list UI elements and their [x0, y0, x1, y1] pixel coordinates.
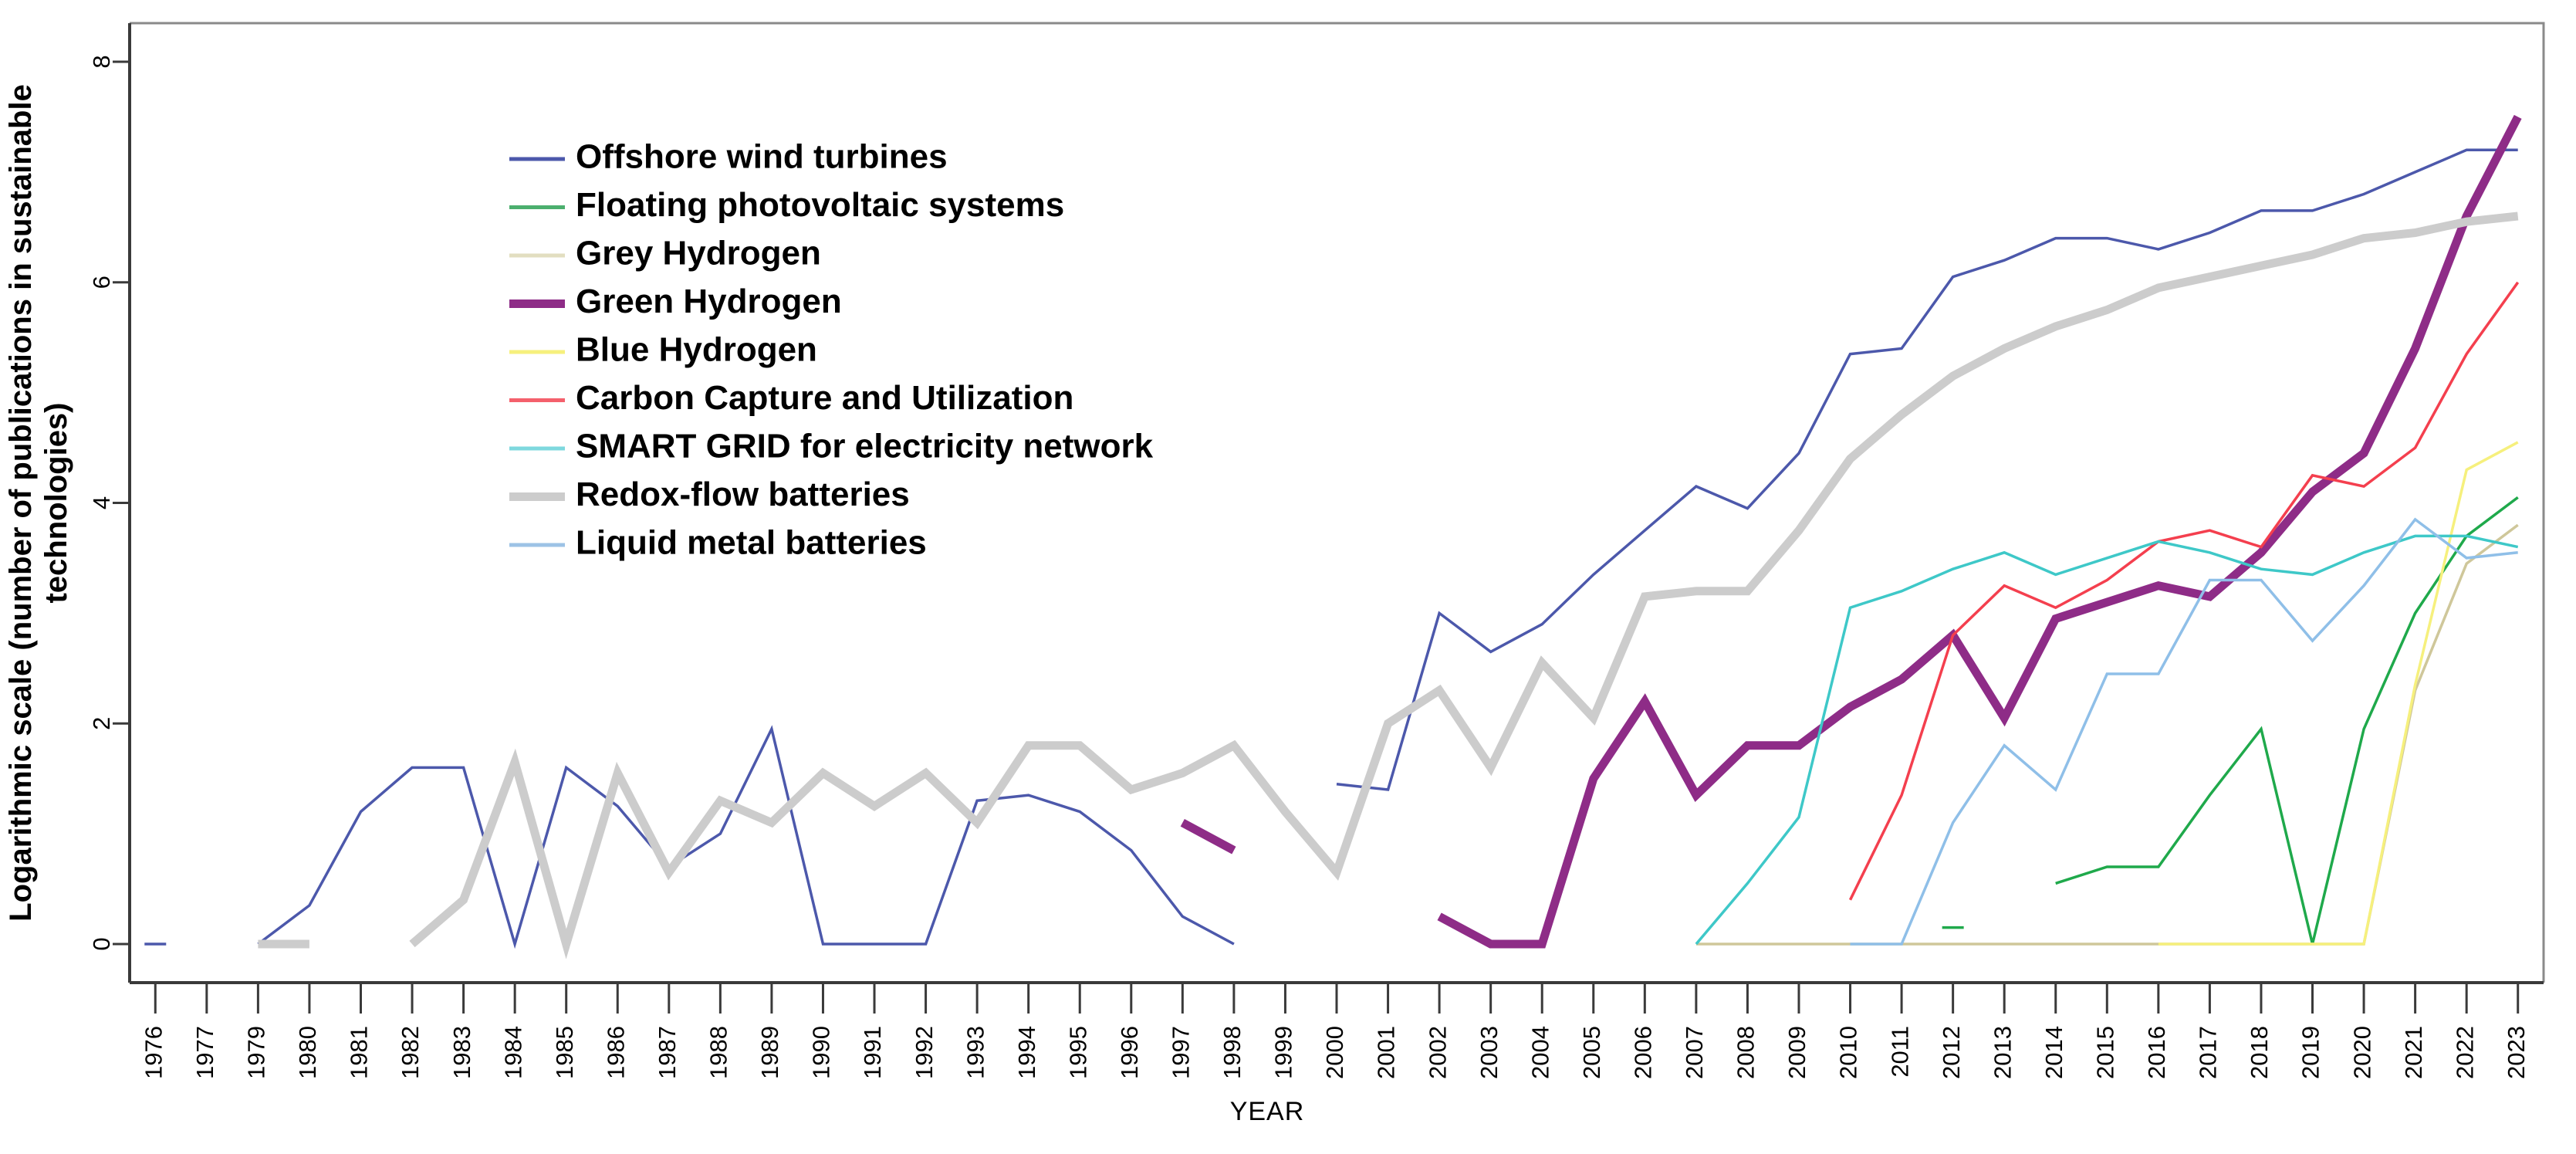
x-tick-label: 2014 [2040, 1026, 2067, 1079]
y-tick-label: 0 [88, 937, 115, 950]
legend-item-floating-photovoltaic-systems[interactable]: Floating photovoltaic systems [509, 186, 1064, 224]
x-tick-label: 2016 [2143, 1026, 2170, 1079]
x-tick-label: 1985 [551, 1026, 578, 1079]
y-tick-label: 6 [88, 276, 115, 289]
x-tick-label: 2000 [1321, 1026, 1348, 1079]
x-tick-label: 1984 [499, 1026, 526, 1079]
legend-label: Blue Hydrogen [576, 331, 817, 369]
x-tick-label: 1979 [243, 1026, 270, 1079]
x-tick-label: 1991 [859, 1026, 886, 1079]
x-tick-label: 1994 [1013, 1026, 1040, 1079]
legend-label: Carbon Capture and Utilization [576, 379, 1073, 417]
chart-background [0, 0, 2576, 1154]
x-tick-label: 1989 [756, 1026, 783, 1079]
x-tick-label: 1996 [1116, 1026, 1143, 1079]
x-tick-label: 1995 [1064, 1026, 1091, 1079]
x-tick-label: 2018 [2246, 1026, 2273, 1079]
x-tick-label: 1997 [1168, 1026, 1195, 1079]
x-tick-label: 2012 [1938, 1026, 1965, 1079]
legend-item-smart-grid-for-electricity-network[interactable]: SMART GRID for electricity network [509, 428, 1154, 465]
y-tick-label: 2 [88, 717, 115, 730]
y-tick-label: 8 [88, 55, 115, 68]
legend-item-offshore-wind-turbines[interactable]: Offshore wind turbines [509, 138, 948, 176]
x-tick-label: 1981 [346, 1026, 373, 1079]
x-tick-label: 2022 [2451, 1026, 2478, 1079]
x-tick-label: 2019 [2297, 1026, 2324, 1079]
x-tick-label: 1993 [962, 1026, 989, 1079]
legend-label: Green Hydrogen [576, 283, 842, 320]
x-tick-label: 1977 [191, 1026, 218, 1079]
x-tick-label: 1998 [1219, 1026, 1246, 1079]
x-axis-title: YEAR [1230, 1097, 1305, 1126]
x-tick-label: 2017 [2195, 1026, 2222, 1079]
x-tick-label: 2023 [2503, 1026, 2530, 1079]
x-tick-label: 2007 [1681, 1026, 1708, 1079]
legend-label: Floating photovoltaic systems [576, 186, 1064, 224]
x-tick-label: 2002 [1424, 1026, 1451, 1079]
x-tick-label: 2001 [1373, 1026, 1400, 1079]
x-tick-label: 1986 [602, 1026, 629, 1079]
x-tick-label: 2013 [1989, 1026, 2016, 1079]
x-tick-label: 2010 [1835, 1026, 1862, 1079]
x-tick-label: 2006 [1630, 1026, 1657, 1079]
publications-line-chart: 02468 1976197719791980198119821983198419… [0, 0, 2576, 1154]
legend-item-carbon-capture-and-utilization[interactable]: Carbon Capture and Utilization [509, 379, 1073, 417]
legend-label: Redox-flow batteries [576, 475, 910, 513]
x-tick-label: 2009 [1783, 1026, 1810, 1079]
legend-label: Liquid metal batteries [576, 524, 927, 562]
x-tick-label: 1976 [140, 1026, 167, 1079]
x-tick-label: 1982 [397, 1026, 424, 1079]
legend-label: Grey Hydrogen [576, 235, 821, 272]
x-tick-label: 1983 [448, 1026, 475, 1079]
legend-label: SMART GRID for electricity network [576, 428, 1154, 465]
x-tick-label: 1990 [808, 1026, 835, 1079]
x-tick-label: 2008 [1733, 1026, 1760, 1079]
x-tick-label: 2003 [1476, 1026, 1503, 1079]
x-tick-label: 1987 [654, 1026, 681, 1079]
x-tick-label: 2021 [2400, 1026, 2427, 1079]
x-tick-label: 2015 [2091, 1026, 2118, 1079]
chart-page: 02468 1976197719791980198119821983198419… [0, 0, 2576, 1154]
x-tick-label: 2005 [1578, 1026, 1605, 1079]
x-tick-label: 2011 [1886, 1026, 1913, 1078]
x-tick-label: 1980 [294, 1026, 321, 1079]
x-tick-label: 1988 [705, 1026, 732, 1079]
x-tick-label: 2020 [2348, 1026, 2375, 1079]
x-tick-label: 2004 [1526, 1026, 1553, 1079]
y-tick-label: 4 [88, 496, 115, 509]
x-tick-label: 1999 [1270, 1026, 1297, 1079]
x-tick-label: 1992 [911, 1026, 938, 1079]
legend-label: Offshore wind turbines [576, 138, 948, 176]
